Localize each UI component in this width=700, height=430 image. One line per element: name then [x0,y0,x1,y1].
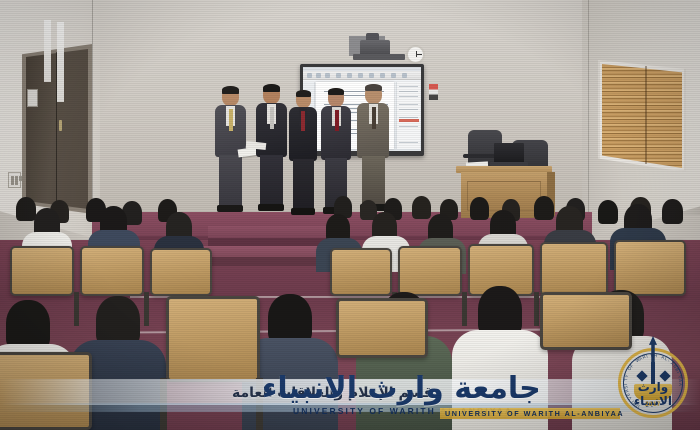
screen-ribbon-toolbar [303,71,421,80]
auditorium-seat [540,242,608,296]
auditorium-seat-foreground [166,296,260,382]
presenter-1-trousers [219,155,242,207]
presenter-2-tie [270,107,274,129]
auditorium-seat [398,246,462,296]
auditorium-seat [614,240,686,296]
watermark-arabic-title: جامعة وارث الانبياء [262,371,541,406]
student-head [478,286,522,336]
student-head [6,300,50,350]
university-seal-logo: UNIVERSITY OF WARITH AL-ANBIYAA وارث الا… [614,334,692,422]
student-head [268,294,312,344]
student-head [96,296,140,346]
presenter-2-shoes [258,204,284,211]
seat-leg [462,292,467,326]
window-blinds [602,64,682,168]
presenter-2-hair [263,84,280,92]
laptop-on-desk [494,143,524,163]
door-handle [59,120,62,131]
light-switch-panel [8,172,21,188]
door-center-seam [56,52,57,207]
presenter-2 [252,84,290,218]
seal-year: 2017 [620,402,686,408]
blinds-center-seam [645,66,647,164]
auditorium-seat [80,246,144,296]
presenter-3 [286,90,320,218]
seat-leg [534,292,539,326]
presenter-5-trousers [362,156,385,206]
presenter-4-hair [328,88,344,95]
door-glass-panel-right [57,22,64,102]
presenter-3-tie [301,111,305,131]
door-sign [27,89,38,107]
seat-leg [144,292,149,326]
door-glass-panel-left [44,20,51,82]
presenter-1 [210,86,250,218]
presenter-3-shoes [291,208,315,215]
auditorium-seat-foreground [336,298,428,358]
lecture-hall-photograph: قسم الإعلام والعلاقات العامة جامعة وارث … [0,0,700,430]
presenter-1-hair [222,86,239,94]
auditorium-seat [330,248,392,296]
presenter-3-trousers [293,159,314,210]
wall-corner-left [92,0,93,216]
clock-minute-hand [416,54,422,55]
presenter-5-tie [372,107,376,129]
presenter-2-trousers [260,155,283,206]
presenter-5 [354,84,392,218]
auditorium-seat [150,248,212,296]
presenter-3-hair [296,90,311,97]
auditorium-seat [10,246,74,296]
screen-side-panel [396,82,420,149]
watermark-gold-banner-label: UNIVERSITY OF WARITH AL-ANBIYAA [445,409,624,418]
wall-corner-right [588,0,589,214]
presenter-1-tie [229,109,233,131]
presenter-5-hair [365,84,382,91]
presenter-1-shoes [217,205,243,212]
projector-support-arm [353,54,405,60]
screen-highlight-bar [399,119,419,122]
seat-leg [74,292,79,326]
wall-clock [406,45,425,64]
iraq-flag-sliver [429,84,438,100]
presenter-4-tie [335,110,339,131]
